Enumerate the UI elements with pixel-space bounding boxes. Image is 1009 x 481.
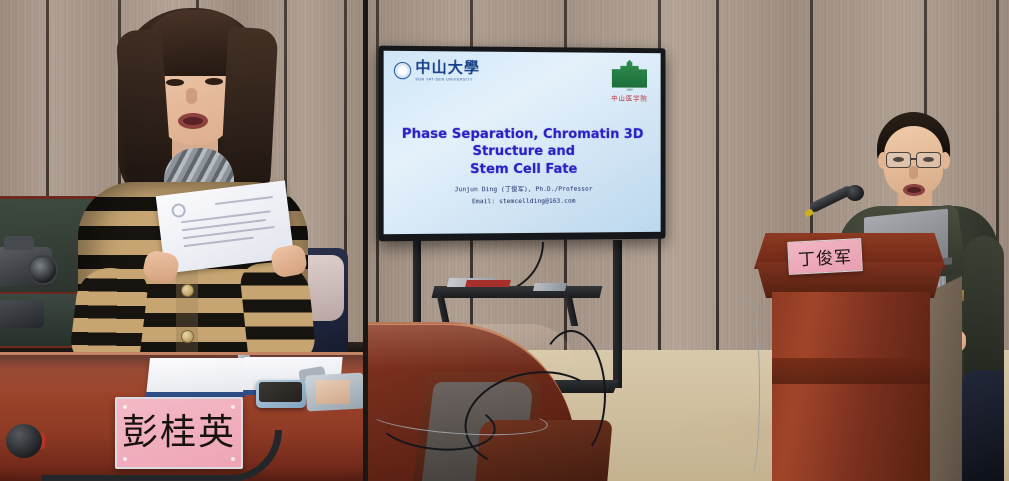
slide-title: Phase Separation, Chromatin 3D Structure…	[392, 126, 653, 179]
moderator-mouth-inner	[183, 117, 203, 125]
speaker-arm	[964, 236, 1004, 386]
eye-left	[166, 79, 184, 86]
university-name-en: SUN YAT-SEN UNIVERSITY	[415, 77, 480, 81]
badge-insert	[316, 380, 350, 404]
school-year: 1866	[610, 87, 649, 91]
floor-cable-thin	[740, 300, 760, 480]
camera-microphone	[0, 300, 44, 328]
gooseneck-microphone-stem	[42, 430, 282, 481]
school-logo: 1866 中山医学院	[610, 60, 649, 103]
slide-author-block: Junjun Ding (丁俊军), Ph.D./Professor Email…	[392, 183, 653, 209]
video-camera-top	[4, 236, 34, 250]
speaker-mouth-inner	[907, 187, 921, 193]
left-panel-photo: 彭桂英	[0, 0, 363, 481]
school-name-cn: 中山医学院	[610, 92, 649, 102]
slide-title-line1: Phase Separation, Chromatin 3D Structure…	[392, 126, 653, 161]
eyeglasses-lens-right	[916, 152, 941, 168]
school-building-icon	[612, 60, 647, 88]
university-name-cn: 中山大學	[415, 60, 480, 76]
tv-stand-column	[613, 240, 622, 388]
tv-stand-shelf	[432, 286, 603, 298]
handheld-microphone-head	[846, 185, 864, 201]
eye-right	[205, 78, 223, 85]
slide-author-email: Email: stemcellding@163.com	[392, 195, 653, 209]
university-logo: 中山大學 SUN YAT-SEN UNIVERSITY	[394, 60, 480, 82]
podium-side	[928, 276, 962, 481]
name-placard-speaker: 丁俊军	[787, 238, 863, 275]
right-panel-photo: 中山大學 SUN YAT-SEN UNIVERSITY 1866 中山医学院 P…	[368, 0, 1009, 481]
shelf-item	[533, 283, 567, 291]
cardigan-button	[181, 284, 194, 297]
eyeglasses-lens-left	[886, 152, 911, 168]
podium-body	[772, 292, 930, 481]
ear-right	[940, 152, 950, 169]
camera-lens	[28, 255, 58, 285]
presentation-slide: 中山大學 SUN YAT-SEN UNIVERSITY 1866 中山医学院 P…	[384, 51, 661, 234]
open-notebook-left-page	[146, 358, 246, 396]
microphone-head	[6, 424, 42, 458]
speaker-nose	[909, 166, 918, 179]
podium-band	[772, 358, 930, 384]
smartphone-screen	[259, 382, 302, 402]
screen-surface: 中山大學 SUN YAT-SEN UNIVERSITY 1866 中山医学院 P…	[384, 51, 661, 234]
floor-cable	[536, 330, 606, 460]
display-screen: 中山大學 SUN YAT-SEN UNIVERSITY 1866 中山医学院 P…	[379, 46, 666, 242]
panel-divider	[363, 0, 368, 481]
name-placard-text: 丁俊军	[797, 243, 852, 271]
slide-title-line2: Stem Cell Fate	[392, 161, 653, 179]
shelf-item	[465, 280, 511, 287]
moderator-nose	[186, 88, 197, 104]
screenshot-root: 彭桂英	[0, 0, 1009, 481]
university-seal-icon	[394, 62, 411, 79]
person-silhouette	[962, 370, 1004, 481]
cardigan-button	[181, 330, 194, 343]
eyeglasses-bridge	[911, 158, 916, 160]
